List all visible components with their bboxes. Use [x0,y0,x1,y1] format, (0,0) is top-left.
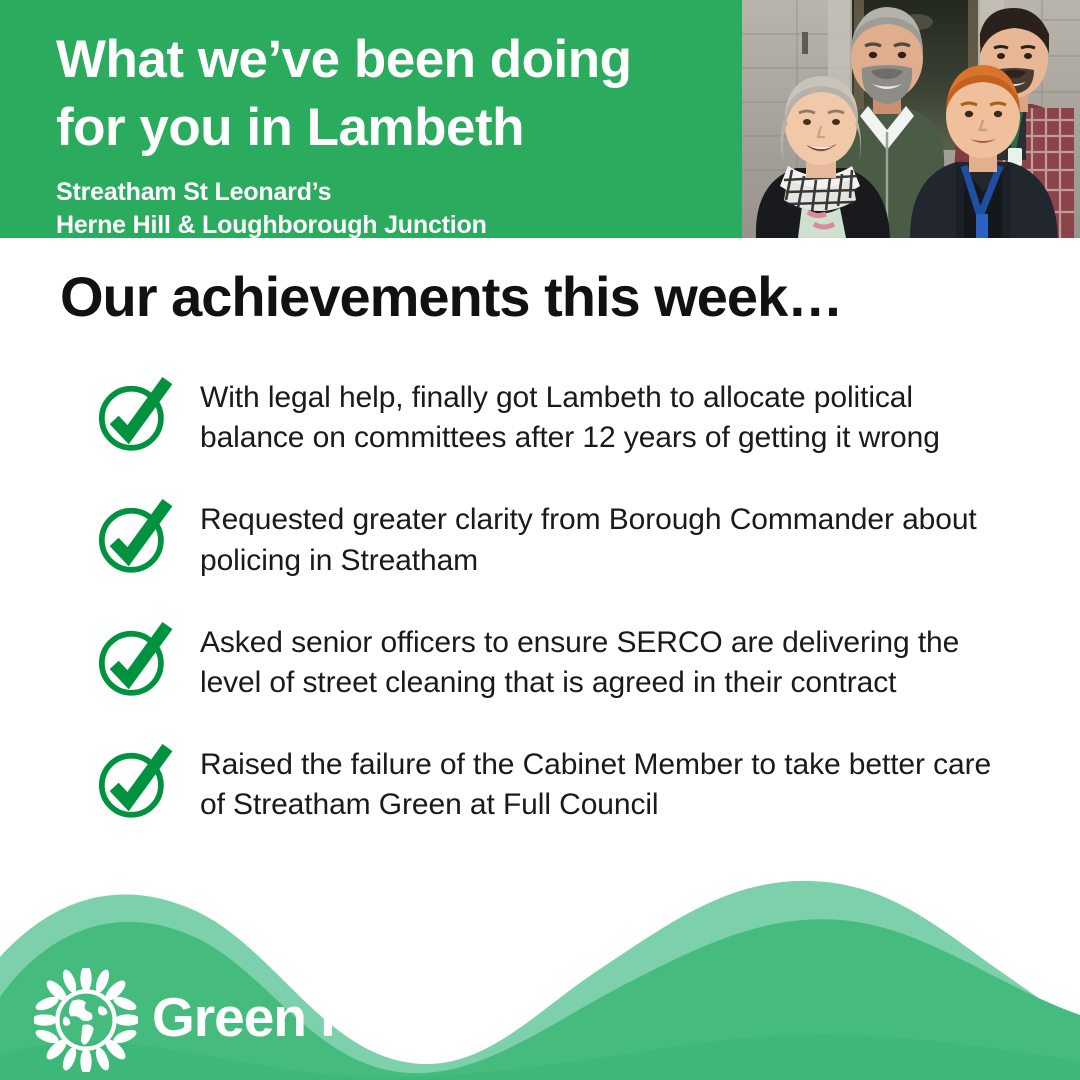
header-subtitle: Streatham St Leonard’s Herne Hill & Loug… [56,176,716,244]
list-item: With legal help, finally got Lambeth to … [92,372,1052,458]
header-text-block: What we’ve been doing for you in Lambeth… [56,26,716,243]
list-item: Requested greater clarity from Borough C… [92,494,1052,580]
sunflower-globe-icon [34,968,138,1072]
check-circle-icon [92,619,174,701]
list-item-text: Raised the failure of the Cabinet Member… [200,739,991,825]
list-item: Raised the failure of the Cabinet Member… [92,739,1052,825]
achievements-list: With legal help, finally got Lambeth to … [92,372,1052,862]
green-party-logo: Green Party [34,968,453,1072]
list-item-text: Requested greater clarity from Borough C… [200,494,977,580]
list-item-text: With legal help, finally got Lambeth to … [200,372,940,458]
poster-root: What we’ve been doing for you in Lambeth… [0,0,1080,1080]
check-circle-icon [92,496,174,578]
check-circle-icon [92,374,174,456]
section-heading: Our achievements this week… [60,264,842,329]
list-item: Asked senior officers to ensure SERCO ar… [92,617,1052,703]
team-photo [742,0,1080,238]
brand-name: Green Party [152,990,453,1051]
page-title: What we’ve been doing for you in Lambeth [56,26,716,162]
check-circle-icon [92,741,174,823]
list-item-text: Asked senior officers to ensure SERCO ar… [200,617,959,703]
